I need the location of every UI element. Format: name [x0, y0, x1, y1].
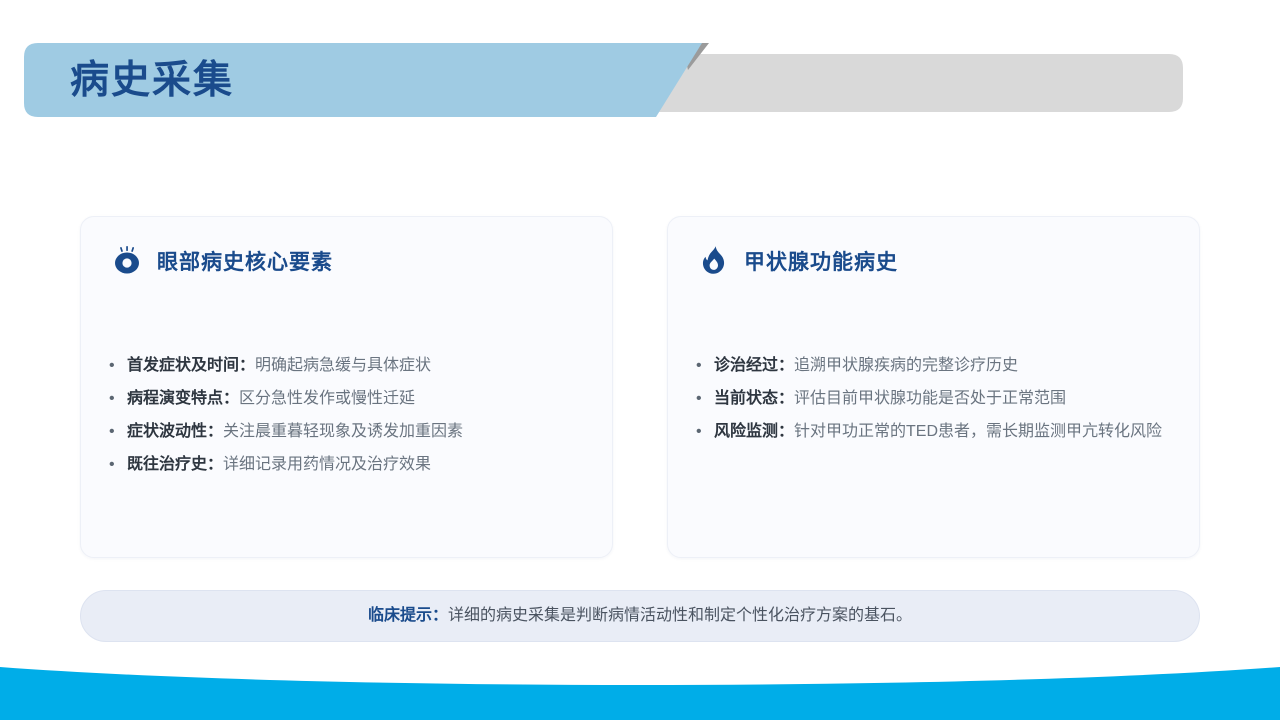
bullet-marker: • — [109, 418, 127, 445]
bullet-body: 当前状态：评估目前甲状腺功能是否处于正常范围 — [714, 385, 1066, 412]
list-item: • 病程演变特点：区分急性发作或慢性迁延 — [109, 385, 594, 412]
bullet-marker: • — [109, 451, 127, 478]
bullet-body: 既往治疗史：详细记录用药情况及治疗效果 — [127, 451, 431, 478]
card-header: 眼部病史核心要素 — [111, 245, 333, 277]
bullet-marker: • — [696, 385, 714, 412]
bullet-detail: 针对甲功正常的TED患者，需长期监测甲亢转化风险 — [794, 423, 1162, 440]
bullet-marker: • — [696, 352, 714, 379]
bullet-detail: 明确起病急缓与具体症状 — [255, 357, 431, 374]
bullet-body: 风险监测：针对甲功正常的TED患者，需长期监测甲亢转化风险 — [714, 418, 1162, 445]
bullet-label: 当前状态： — [714, 390, 794, 407]
card-title: 眼部病史核心要素 — [157, 246, 333, 276]
header-banner: 病史采集 — [0, 0, 1280, 150]
page-title: 病史采集 — [70, 58, 234, 104]
card-thyroid-history: 甲状腺功能病史 • 诊治经过：追溯甲状腺疾病的完整诊疗历史 • 当前状态：评估目… — [667, 216, 1200, 558]
bullet-detail: 评估目前甲状腺功能是否处于正常范围 — [794, 390, 1066, 407]
list-item: • 既往治疗史：详细记录用药情况及治疗效果 — [109, 451, 594, 478]
bullet-label: 既往治疗史： — [127, 456, 223, 473]
clinical-tip-bar: 临床提示：详细的病史采集是判断病情活动性和制定个性化治疗方案的基石。 — [80, 590, 1200, 642]
bullet-body: 病程演变特点：区分急性发作或慢性迁延 — [127, 385, 415, 412]
bullet-body: 诊治经过：追溯甲状腺疾病的完整诊疗历史 — [714, 352, 1018, 379]
list-item: • 症状波动性：关注晨重暮轻现象及诱发加重因素 — [109, 418, 594, 445]
bottom-wave-path — [0, 667, 1280, 720]
bullet-label: 风险监测： — [714, 423, 794, 440]
cards-row: 眼部病史核心要素 • 首发症状及时间：明确起病急缓与具体症状 • 病程演变特点：… — [80, 216, 1200, 558]
clinical-tip-text: 临床提示：详细的病史采集是判断病情活动性和制定个性化治疗方案的基石。 — [368, 605, 912, 627]
bullet-marker: • — [696, 418, 714, 445]
eye-icon — [111, 245, 143, 277]
header-gray-band — [655, 54, 1183, 112]
clinical-tip-label: 临床提示： — [368, 607, 448, 624]
bullet-detail: 追溯甲状腺疾病的完整诊疗历史 — [794, 357, 1018, 374]
list-item: • 风险监测：针对甲功正常的TED患者，需长期监测甲亢转化风险 — [696, 418, 1181, 445]
card-ocular-history: 眼部病史核心要素 • 首发症状及时间：明确起病急缓与具体症状 • 病程演变特点：… — [80, 216, 613, 558]
bullet-label: 首发症状及时间： — [127, 357, 255, 374]
bottom-wave-decoration — [0, 660, 1280, 720]
bullet-label: 病程演变特点： — [127, 390, 239, 407]
bullet-detail: 详细记录用药情况及治疗效果 — [223, 456, 431, 473]
bullet-detail: 关注晨重暮轻现象及诱发加重因素 — [223, 423, 463, 440]
card-header: 甲状腺功能病史 — [698, 245, 898, 277]
bullet-label: 症状波动性： — [127, 423, 223, 440]
bullet-marker: • — [109, 385, 127, 412]
flame-icon — [698, 245, 730, 277]
bullet-list: • 诊治经过：追溯甲状腺疾病的完整诊疗历史 • 当前状态：评估目前甲状腺功能是否… — [696, 352, 1181, 451]
bullet-label: 诊治经过： — [714, 357, 794, 374]
bullet-body: 症状波动性：关注晨重暮轻现象及诱发加重因素 — [127, 418, 463, 445]
list-item: • 诊治经过：追溯甲状腺疾病的完整诊疗历史 — [696, 352, 1181, 379]
bullet-body: 首发症状及时间：明确起病急缓与具体症状 — [127, 352, 431, 379]
list-item: • 首发症状及时间：明确起病急缓与具体症状 — [109, 352, 594, 379]
bullet-detail: 区分急性发作或慢性迁延 — [239, 390, 415, 407]
clinical-tip-detail: 详细的病史采集是判断病情活动性和制定个性化治疗方案的基石。 — [448, 607, 912, 624]
bullet-marker: • — [109, 352, 127, 379]
bullet-list: • 首发症状及时间：明确起病急缓与具体症状 • 病程演变特点：区分急性发作或慢性… — [109, 352, 594, 484]
card-title: 甲状腺功能病史 — [744, 246, 898, 276]
list-item: • 当前状态：评估目前甲状腺功能是否处于正常范围 — [696, 385, 1181, 412]
